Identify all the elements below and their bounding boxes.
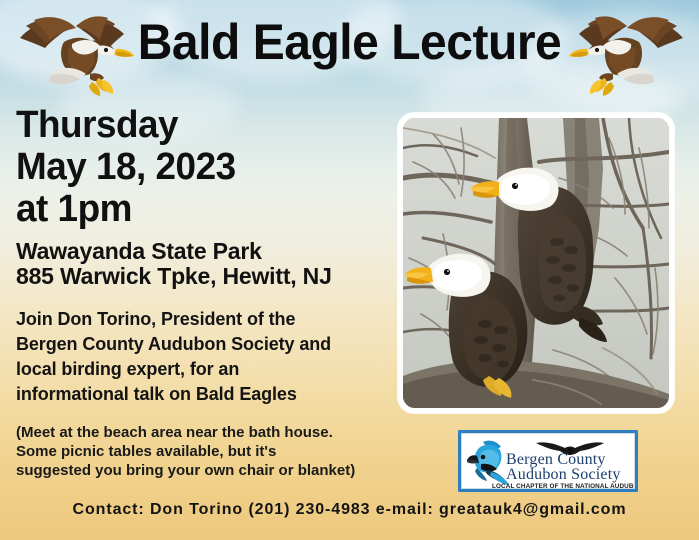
event-day: Thursday: [16, 106, 396, 144]
event-time: at 1pm: [16, 190, 396, 228]
note-line: Some picnic tables available, but it's: [16, 442, 416, 461]
description-line: Bergen County Audubon Society and: [16, 332, 376, 357]
eagle-photo: [403, 118, 669, 408]
event-date: May 18, 2023: [16, 148, 396, 186]
description-line: informational talk on Bald Eagles: [16, 382, 376, 407]
venue-name: Wawayanda State Park: [16, 239, 408, 264]
venue-address: 885 Warwick Tpke, Hewitt, NJ: [16, 264, 408, 289]
poster-header: Bald Eagle Lecture: [0, 0, 699, 100]
blue-jay-icon: [465, 438, 511, 486]
note-line: (Meet at the beach area near the bath ho…: [16, 423, 416, 442]
logo-tagline: LOCAL CHAPTER OF THE NATIONAL AUDUBON SO…: [492, 483, 635, 489]
event-description: Join Don Torino, President of the Bergen…: [16, 307, 376, 407]
logo-line-2: Audubon Society: [506, 467, 621, 483]
meeting-note: (Meet at the beach area near the bath ho…: [16, 423, 416, 480]
audubon-society-logo: Bergen County Audubon Society LOCAL CHAP…: [458, 430, 638, 492]
page-title: Bald Eagle Lecture: [14, 14, 685, 70]
eagle-photo-frame: [398, 113, 674, 413]
description-line: local birding expert, for an: [16, 357, 376, 382]
description-line: Join Don Torino, President of the: [16, 307, 376, 332]
contact-info: Contact: Don Torino (201) 230-4983 e-mai…: [0, 500, 699, 520]
event-details-column: Thursday May 18, 2023 at 1pm Wawayanda S…: [16, 104, 408, 480]
flyer-poster: Bald Eagle Lecture Thursday May 18, 2023…: [0, 0, 699, 540]
note-line: suggested you bring your own chair or bl…: [16, 461, 416, 480]
